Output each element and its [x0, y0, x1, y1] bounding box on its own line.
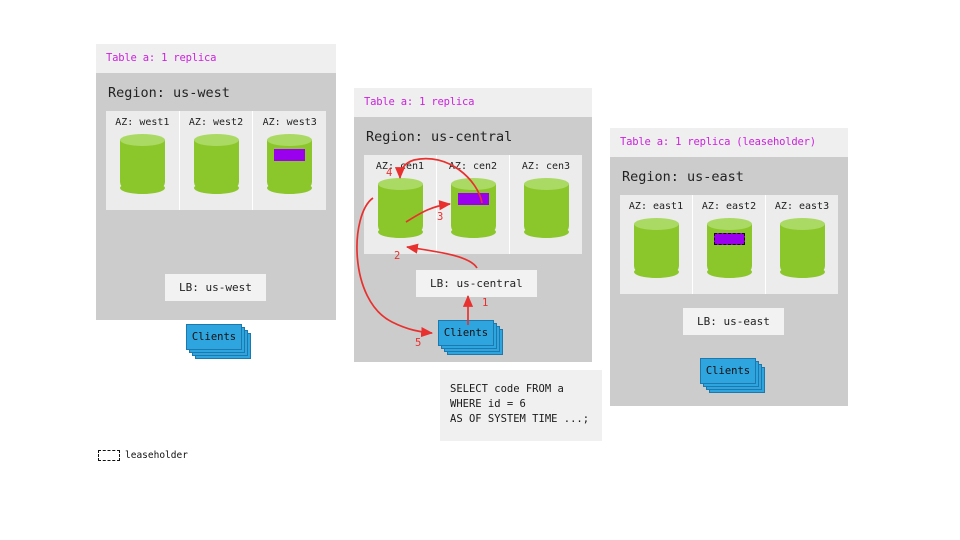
az-cell-cen2[interactable]: AZ: cen2 — [437, 155, 510, 254]
az-cell-west1[interactable]: AZ: west1 — [106, 111, 180, 210]
region-panel-us-central: Table a: 1 replica Region: us-central AZ… — [354, 88, 592, 362]
az-label-cen3: AZ: cen3 — [522, 161, 570, 172]
cylinder-body — [634, 224, 679, 278]
diagram-canvas: Table a: 1 replica Region: us-west AZ: w… — [0, 0, 960, 540]
az-cell-cen3[interactable]: AZ: cen3 — [510, 155, 582, 254]
az-cell-cen1[interactable]: AZ: cen1 — [364, 155, 437, 254]
node-cylinder-cen2[interactable] — [451, 178, 496, 244]
dashed-rectangle-icon — [98, 450, 120, 461]
region-title-us-east: Region: us-east — [620, 157, 838, 195]
load-balancer-us-east[interactable]: LB: us-east — [683, 308, 784, 335]
node-cylinder-west3[interactable] — [267, 134, 312, 200]
az-label-cen2: AZ: cen2 — [449, 161, 497, 172]
az-row-us-central: AZ: cen1 AZ: cen2 — [364, 155, 582, 254]
node-cylinder-cen3[interactable] — [524, 178, 569, 244]
replica-marker-cen2 — [458, 193, 489, 205]
cylinder-body — [194, 140, 239, 194]
az-label-west1: AZ: west1 — [115, 117, 169, 128]
table-replica-label-us-west: Table a: 1 replica — [96, 44, 336, 73]
cylinder-top — [524, 178, 569, 190]
load-balancer-us-west[interactable]: LB: us-west — [165, 274, 266, 301]
az-cell-west2[interactable]: AZ: west2 — [180, 111, 254, 210]
node-cylinder-east1[interactable] — [634, 218, 679, 284]
cylinder-top — [120, 134, 165, 146]
az-label-west3: AZ: west3 — [263, 117, 317, 128]
load-balancer-us-central[interactable]: LB: us-central — [416, 270, 537, 297]
az-label-west2: AZ: west2 — [189, 117, 243, 128]
region-title-us-west: Region: us-west — [106, 73, 326, 111]
cylinder-body — [378, 184, 423, 238]
table-replica-label-us-east: Table a: 1 replica (leaseholder) — [610, 128, 848, 157]
az-row-us-west: AZ: west1 AZ: west2 AZ — [106, 111, 326, 210]
cylinder-top — [194, 134, 239, 146]
leaseholder-replica-marker-east2 — [714, 233, 745, 245]
replica-marker-west3 — [274, 149, 305, 161]
sql-query-box: SELECT code FROM a WHERE id = 6 AS OF SY… — [440, 370, 602, 441]
node-cylinder-east2[interactable] — [707, 218, 752, 284]
node-cylinder-west1[interactable] — [120, 134, 165, 200]
node-cylinder-cen1[interactable] — [378, 178, 423, 244]
cylinder-top — [707, 218, 752, 230]
node-cylinder-west2[interactable] — [194, 134, 239, 200]
flow-step-number-5: 5 — [415, 337, 421, 349]
cylinder-body — [120, 140, 165, 194]
cylinder-top — [451, 178, 496, 190]
az-label-cen1: AZ: cen1 — [376, 161, 424, 172]
flow-step-number-2: 2 — [394, 250, 400, 262]
clients-card-front[interactable]: Clients — [186, 324, 242, 350]
node-cylinder-east3[interactable] — [780, 218, 825, 284]
cylinder-body — [780, 224, 825, 278]
az-cell-west3[interactable]: AZ: west3 — [253, 111, 326, 210]
clients-us-east[interactable]: Clients — [700, 358, 756, 384]
az-label-east3: AZ: east3 — [775, 201, 829, 212]
clients-us-west[interactable]: Clients — [186, 324, 242, 350]
cylinder-body — [524, 184, 569, 238]
clients-card-front[interactable]: Clients — [438, 320, 494, 346]
az-label-east1: AZ: east1 — [629, 201, 683, 212]
az-row-us-east: AZ: east1 AZ: east2 — [620, 195, 838, 294]
cylinder-top — [378, 178, 423, 190]
region-panel-us-west: Table a: 1 replica Region: us-west AZ: w… — [96, 44, 336, 320]
flow-step-number-3: 3 — [437, 211, 443, 223]
legend-label: leaseholder — [125, 450, 188, 461]
flow-step-number-4: 4 — [386, 167, 392, 179]
clients-us-central[interactable]: Clients — [438, 320, 494, 346]
az-cell-east1[interactable]: AZ: east1 — [620, 195, 693, 294]
legend-leaseholder: leaseholder — [98, 450, 188, 461]
az-cell-east3[interactable]: AZ: east3 — [766, 195, 838, 294]
az-label-east2: AZ: east2 — [702, 201, 756, 212]
region-title-us-central: Region: us-central — [364, 117, 582, 155]
az-cell-east2[interactable]: AZ: east2 — [693, 195, 766, 294]
cylinder-top — [634, 218, 679, 230]
region-panel-us-east: Table a: 1 replica (leaseholder) Region:… — [610, 128, 848, 406]
clients-card-front[interactable]: Clients — [700, 358, 756, 384]
flow-step-number-1: 1 — [482, 297, 488, 309]
cylinder-top — [780, 218, 825, 230]
cylinder-top — [267, 134, 312, 146]
table-replica-label-us-central: Table a: 1 replica — [354, 88, 592, 117]
